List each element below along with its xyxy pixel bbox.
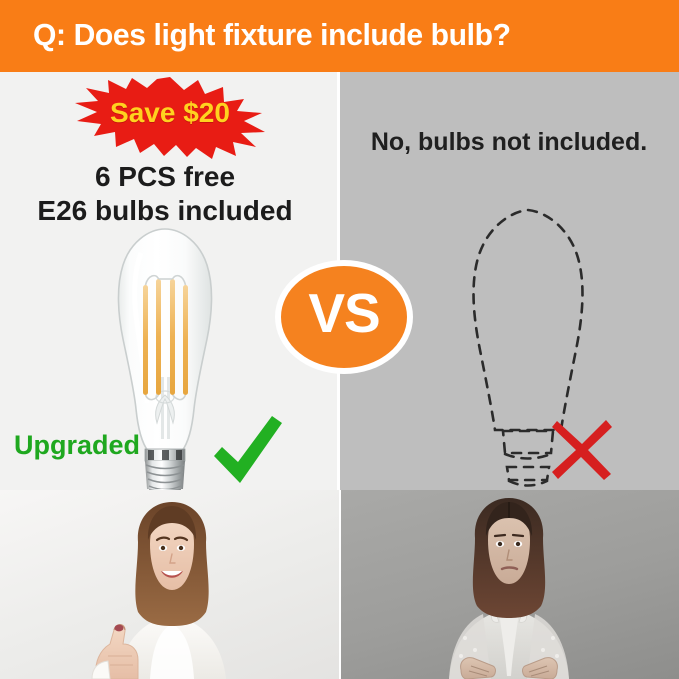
left-copy-line-1: 6 PCS free	[0, 160, 330, 194]
left-copy-block: 6 PCS free E26 bulbs included	[0, 160, 330, 228]
comparison-area: Save $20 6 PCS free E26 bulbs included	[0, 72, 679, 490]
comparison-infographic: Q: Does light fixture include bulb? Save…	[0, 0, 679, 679]
unhappy-woman-shrugging-photo	[341, 490, 679, 679]
photo-strip: Smiling woman giving a thumbs up on a wh…	[0, 490, 679, 679]
green-check-icon	[210, 412, 286, 488]
versus-badge-label: VS	[275, 284, 413, 342]
upgraded-label: Upgraded	[14, 430, 140, 461]
red-x-icon	[551, 419, 613, 481]
happy-woman-thumbs-up-photo	[0, 490, 339, 679]
save-badge-label: Save $20	[72, 97, 268, 129]
bulb-glass	[118, 229, 211, 451]
versus-badge: VS	[275, 260, 413, 374]
save-badge: Save $20	[72, 77, 268, 159]
page-title: Q: Does light fixture include bulb?	[33, 17, 634, 53]
left-copy-line-2: E26 bulbs included	[0, 194, 330, 228]
header-banner: Q: Does light fixture include bulb?	[0, 0, 679, 72]
right-headline: No, bulbs not included.	[339, 128, 679, 157]
